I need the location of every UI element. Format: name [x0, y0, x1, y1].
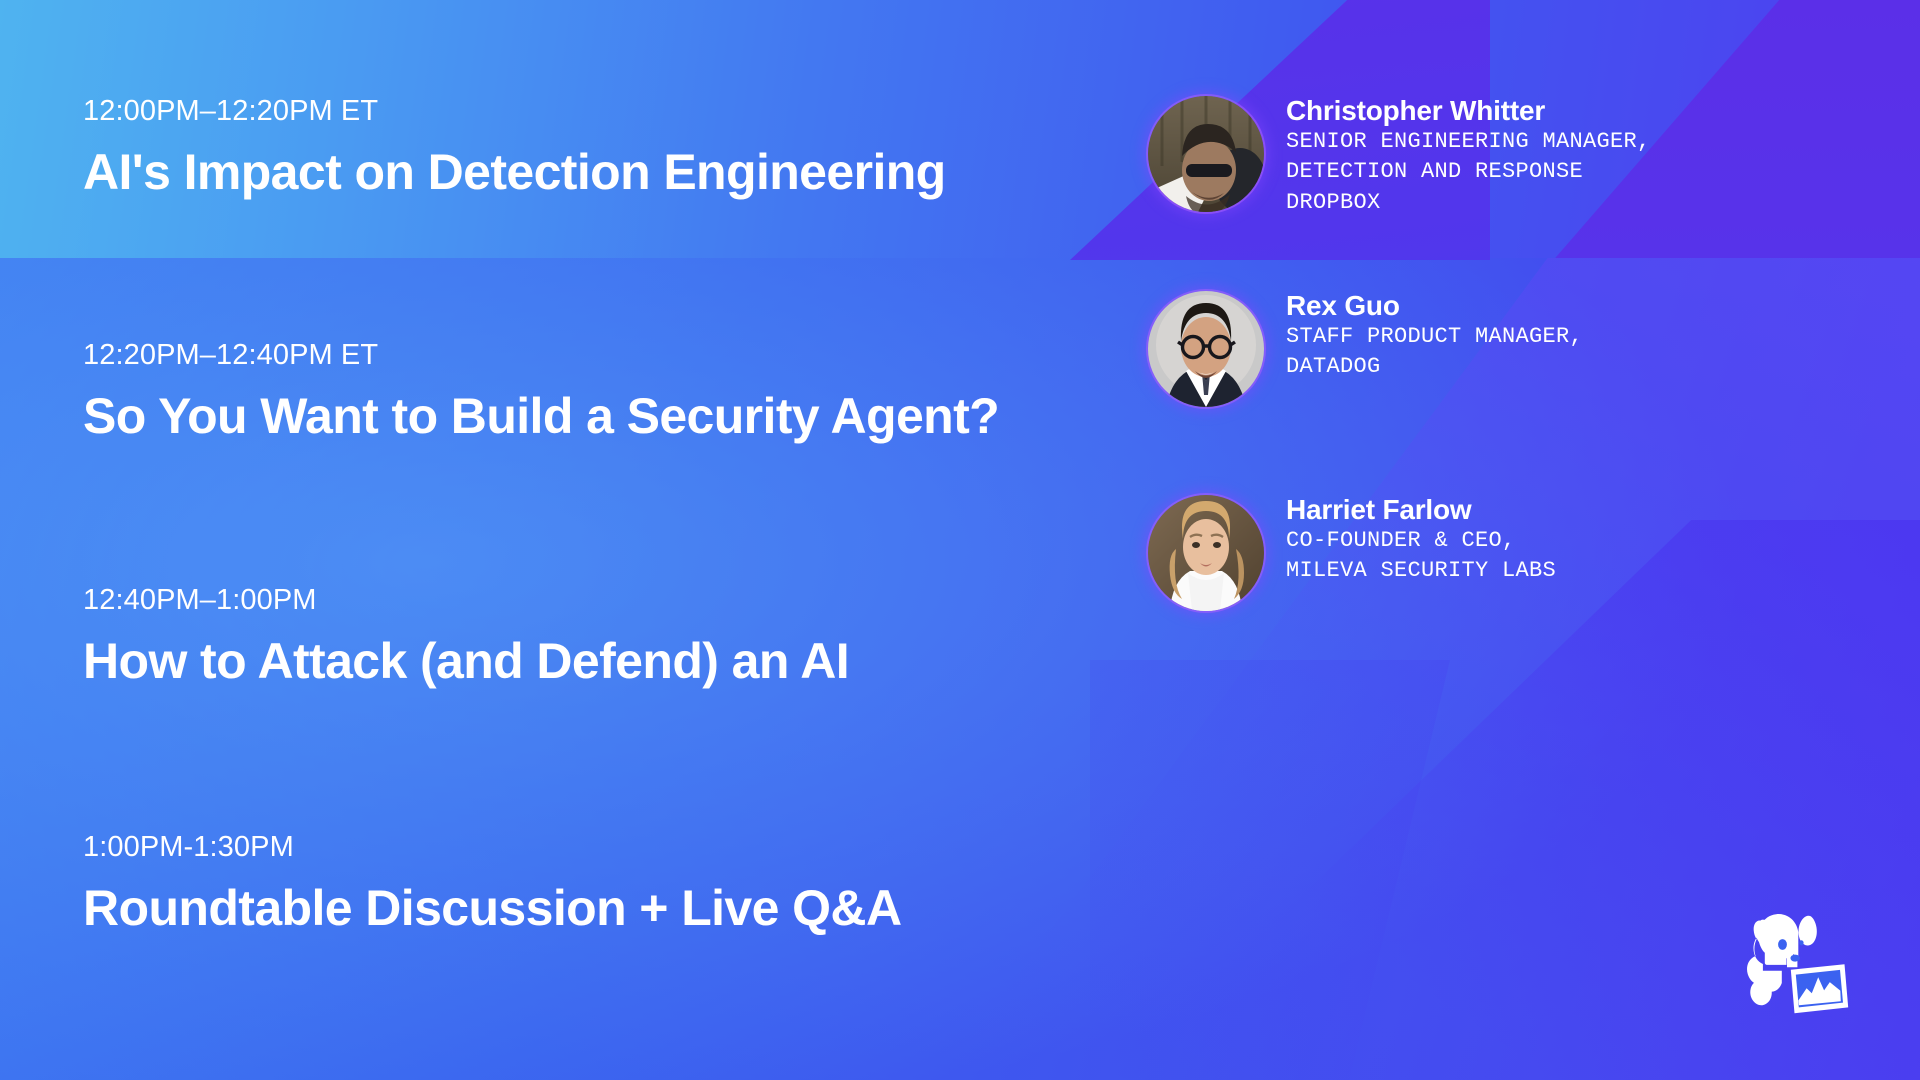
speaker-avatar-rex-guo-icon	[1148, 291, 1264, 407]
avatar	[1148, 495, 1264, 611]
session-title: So You Want to Build a Security Agent?	[83, 389, 1143, 443]
speaker-name: Rex Guo	[1286, 289, 1583, 322]
agenda-session-3[interactable]: 12:40PM–1:00PM How to Attack (and Defend…	[83, 585, 1143, 688]
speaker-name: Harriet Farlow	[1286, 493, 1556, 526]
speaker-role-1: STAFF PRODUCT MANAGER,	[1286, 322, 1583, 352]
session-time: 12:00PM–12:20PM ET	[83, 96, 1143, 128]
agenda-session-2[interactable]: 12:20PM–12:40PM ET So You Want to Build …	[83, 340, 1143, 443]
agenda-session-1[interactable]: 12:00PM–12:20PM ET AI's Impact on Detect…	[83, 96, 1143, 199]
speaker-card[interactable]: Harriet Farlow CO-FOUNDER & CEO, MILEVA …	[1148, 487, 1556, 611]
speaker-role-2: DATADOG	[1286, 352, 1583, 382]
speaker-company: DROPBOX	[1286, 188, 1651, 218]
speaker-avatar-harriet-farlow-icon	[1148, 495, 1264, 611]
speaker-role-1: CO-FOUNDER & CEO,	[1286, 526, 1556, 556]
session-title: Roundtable Discussion + Live Q&A	[83, 881, 1143, 935]
slide-canvas: 12:00PM–12:20PM ET AI's Impact on Detect…	[0, 0, 1920, 1080]
datadog-bits-dog-icon	[1732, 904, 1858, 1030]
session-title: How to Attack (and Defend) an AI	[83, 634, 1143, 688]
session-time: 12:20PM–12:40PM ET	[83, 340, 1143, 372]
speaker-card[interactable]: Rex Guo STAFF PRODUCT MANAGER, DATADOG	[1148, 283, 1583, 407]
speaker-card[interactable]: Christopher Whitter SENIOR ENGINEERING M…	[1148, 88, 1651, 218]
speaker-role-1: SENIOR ENGINEERING MANAGER,	[1286, 127, 1651, 157]
session-title: AI's Impact on Detection Engineering	[83, 145, 1143, 199]
speaker-info: Christopher Whitter SENIOR ENGINEERING M…	[1286, 88, 1651, 218]
agenda-session-4[interactable]: 1:00PM-1:30PM Roundtable Discussion + Li…	[83, 832, 1143, 935]
session-time: 1:00PM-1:30PM	[83, 832, 1143, 864]
speaker-role-2: DETECTION AND RESPONSE	[1286, 157, 1651, 187]
avatar	[1148, 291, 1264, 407]
avatar	[1148, 96, 1264, 212]
agenda-list: 12:00PM–12:20PM ET AI's Impact on Detect…	[83, 0, 1143, 1080]
speaker-info: Harriet Farlow CO-FOUNDER & CEO, MILEVA …	[1286, 487, 1556, 587]
speaker-info: Rex Guo STAFF PRODUCT MANAGER, DATADOG	[1286, 283, 1583, 383]
speaker-role-2: MILEVA SECURITY LABS	[1286, 556, 1556, 586]
speaker-avatar-christopher-whitter-icon	[1148, 96, 1264, 212]
session-time: 12:40PM–1:00PM	[83, 585, 1143, 617]
speaker-name: Christopher Whitter	[1286, 94, 1651, 127]
